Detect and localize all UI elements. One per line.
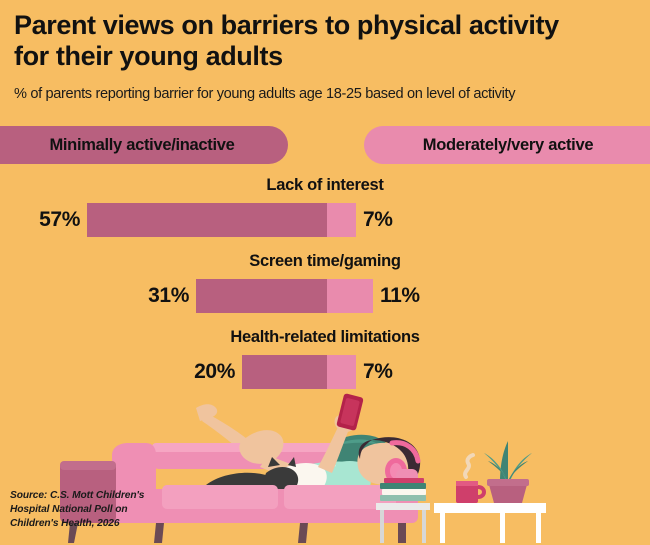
- source-note: Source: C.S. Mott Children's Hospital Na…: [10, 489, 144, 531]
- bar-group-screen-time-gaming: Screen time/gaming 31% 11%: [0, 252, 650, 328]
- bar-segment-moderately-active[interactable]: [327, 355, 356, 389]
- bar-segment-moderately-active[interactable]: [327, 279, 373, 313]
- legend-item-minimally-active[interactable]: Minimally active/inactive: [0, 126, 288, 164]
- page-title: Parent views on barriers to physical act…: [14, 10, 638, 72]
- book-stack: [380, 478, 426, 501]
- bar-segment-minimally-active[interactable]: [196, 279, 327, 313]
- legend-item-moderately-active[interactable]: Moderately/very active: [364, 126, 650, 164]
- couch-cushion-left: [162, 485, 278, 509]
- bar-track[interactable]: [242, 355, 356, 389]
- header: Parent views on barriers to physical act…: [14, 10, 638, 103]
- legend-label-minimally-active: Minimally active/inactive: [49, 136, 234, 155]
- potted-plant: [484, 441, 532, 503]
- bar-category-label: Screen time/gaming: [0, 252, 650, 271]
- bar-segment-minimally-active[interactable]: [87, 203, 327, 237]
- bar-track[interactable]: [196, 279, 373, 313]
- mug: [456, 455, 484, 503]
- bar-segment-minimally-active[interactable]: [242, 355, 327, 389]
- bar-row: 31% 11%: [0, 279, 650, 313]
- white-side-table: [434, 503, 546, 543]
- bar-track[interactable]: [87, 203, 356, 237]
- bar-chart: Lack of interest 57% 7% Screen time/gami…: [0, 176, 650, 404]
- page-subtitle: % of parents reporting barrier for young…: [14, 72, 638, 104]
- bar-category-label: Health-related limitations: [0, 328, 650, 347]
- bar-value-right: 11%: [380, 281, 480, 311]
- legend: Minimally active/inactive Moderately/ver…: [0, 126, 650, 164]
- bar-value-right: 7%: [363, 357, 453, 387]
- bar-row: 57% 7%: [0, 203, 650, 237]
- infographic-root: Parent views on barriers to physical act…: [0, 0, 650, 545]
- phone: [336, 393, 364, 431]
- bar-value-left: 31%: [0, 281, 189, 311]
- bar-value-left: 57%: [0, 205, 80, 235]
- bar-row: 20% 7%: [0, 355, 650, 389]
- bar-value-right: 7%: [363, 205, 453, 235]
- bar-group-lack-of-interest: Lack of interest 57% 7%: [0, 176, 650, 252]
- legend-label-moderately-active: Moderately/very active: [423, 136, 593, 155]
- bar-category-label: Lack of interest: [0, 176, 650, 195]
- steam-icon: [465, 455, 473, 477]
- bar-segment-moderately-active[interactable]: [327, 203, 356, 237]
- bar-value-left: 20%: [0, 357, 235, 387]
